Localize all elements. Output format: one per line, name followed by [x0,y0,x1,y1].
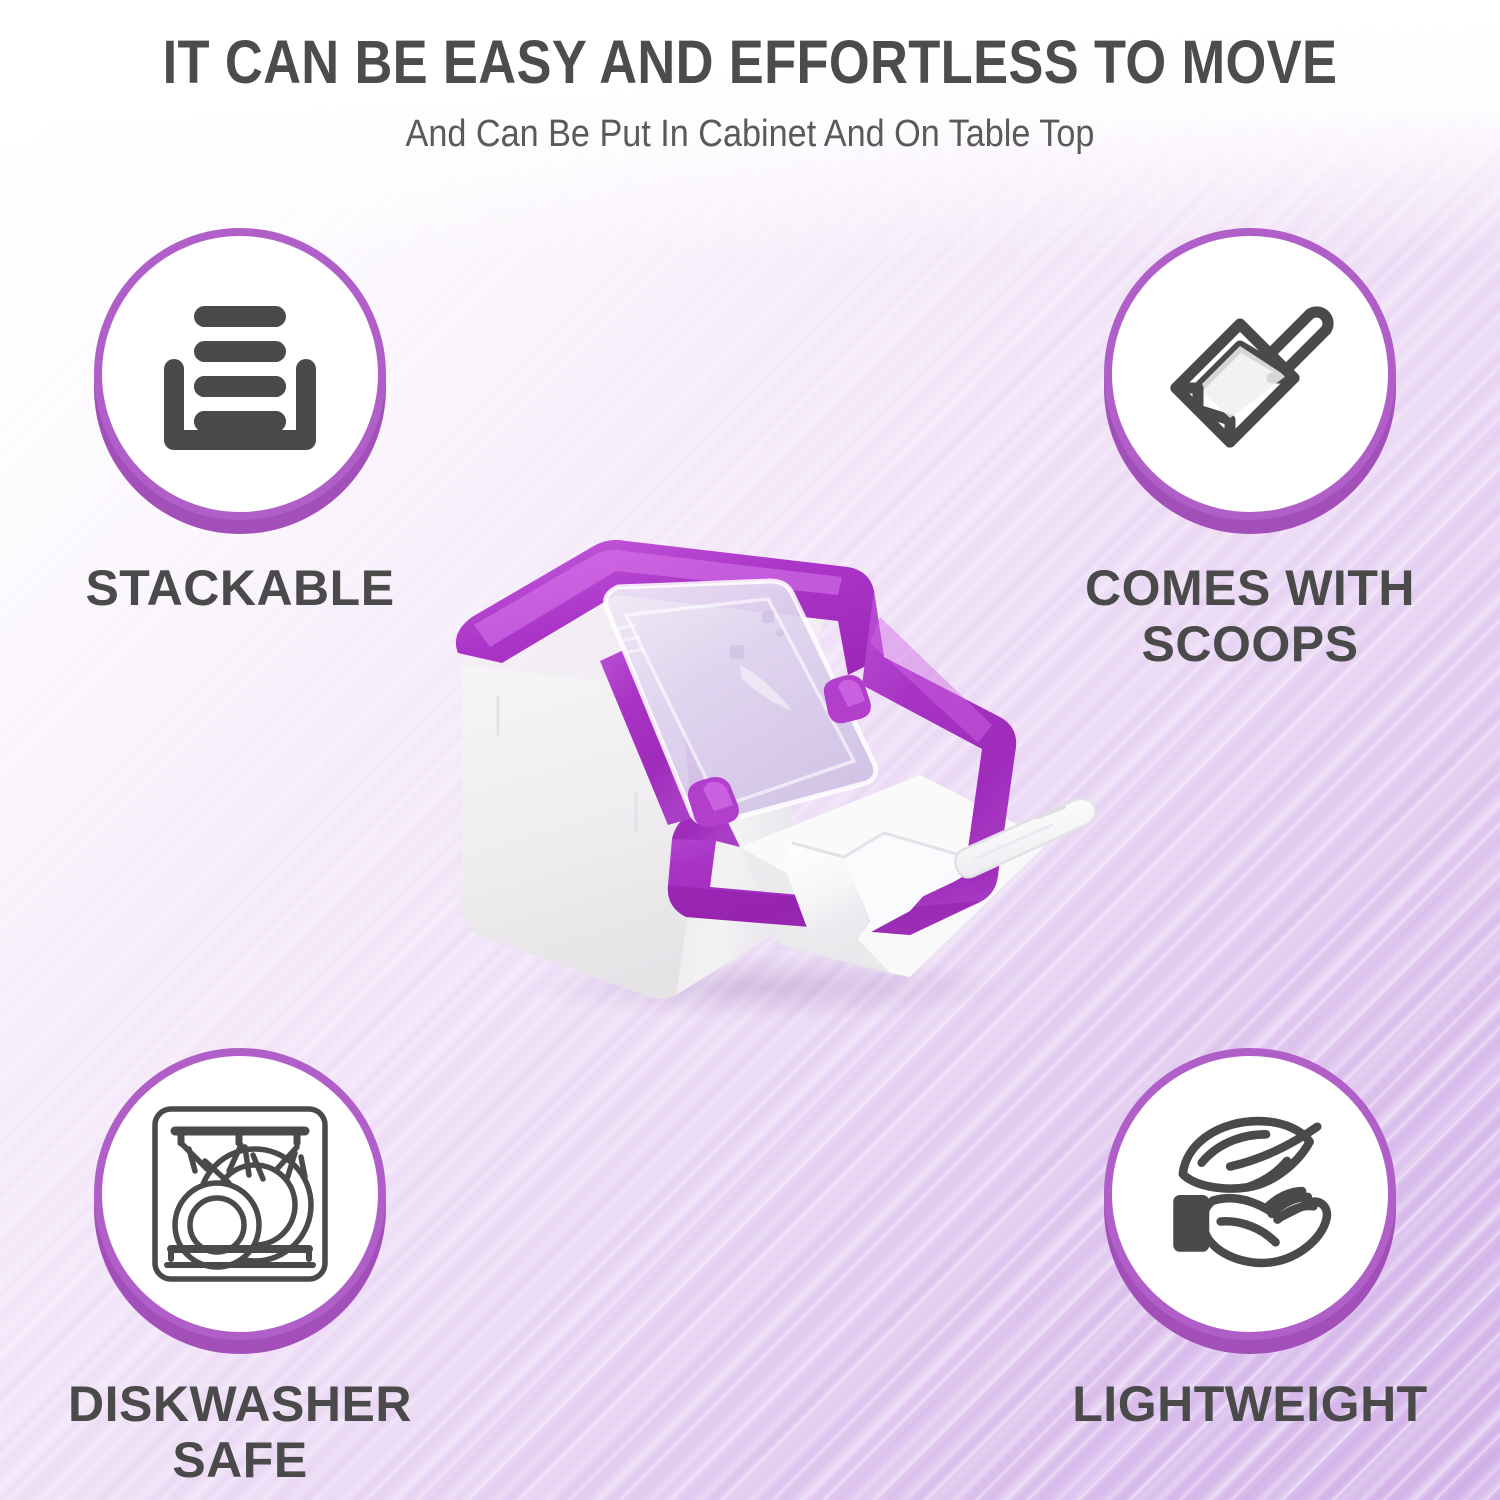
feature-diskwasher-safe: DISKWASHER SAFE [25,1048,455,1488]
hand-holding-feather-icon [1160,1104,1340,1284]
headline-subtitle: And Can Be Put In Cabinet And On Table T… [75,115,1425,153]
feature-label-comes-with-scoops: COMES WITH SCOOPS [1035,560,1465,672]
badge-lightweight [1104,1048,1396,1340]
headline-title: IT CAN BE EASY AND EFFORTLESS TO MOVE [105,32,1395,93]
feature-label-diskwasher-safe: DISKWASHER SAFE [25,1376,455,1488]
badge-stackable [94,228,386,520]
stacked-layers-icon [150,284,330,464]
feature-label-stackable: STACKABLE [25,560,455,616]
feature-lightweight: LIGHTWEIGHT [1035,1048,1465,1432]
scoop-icon [1160,284,1340,464]
badge-scoops [1104,228,1396,520]
product-infographic: IT CAN BE EASY AND EFFORTLESS TO MOVE An… [0,0,1500,1500]
dishwasher-icon [145,1099,335,1289]
feature-label-lightweight: LIGHTWEIGHT [1035,1376,1465,1432]
feature-stackable: STACKABLE [25,228,455,616]
feature-comes-with-scoops: COMES WITH SCOOPS [1035,228,1465,672]
headline-block: IT CAN BE EASY AND EFFORTLESS TO MOVE An… [0,32,1500,153]
badge-dishwasher [94,1048,386,1340]
